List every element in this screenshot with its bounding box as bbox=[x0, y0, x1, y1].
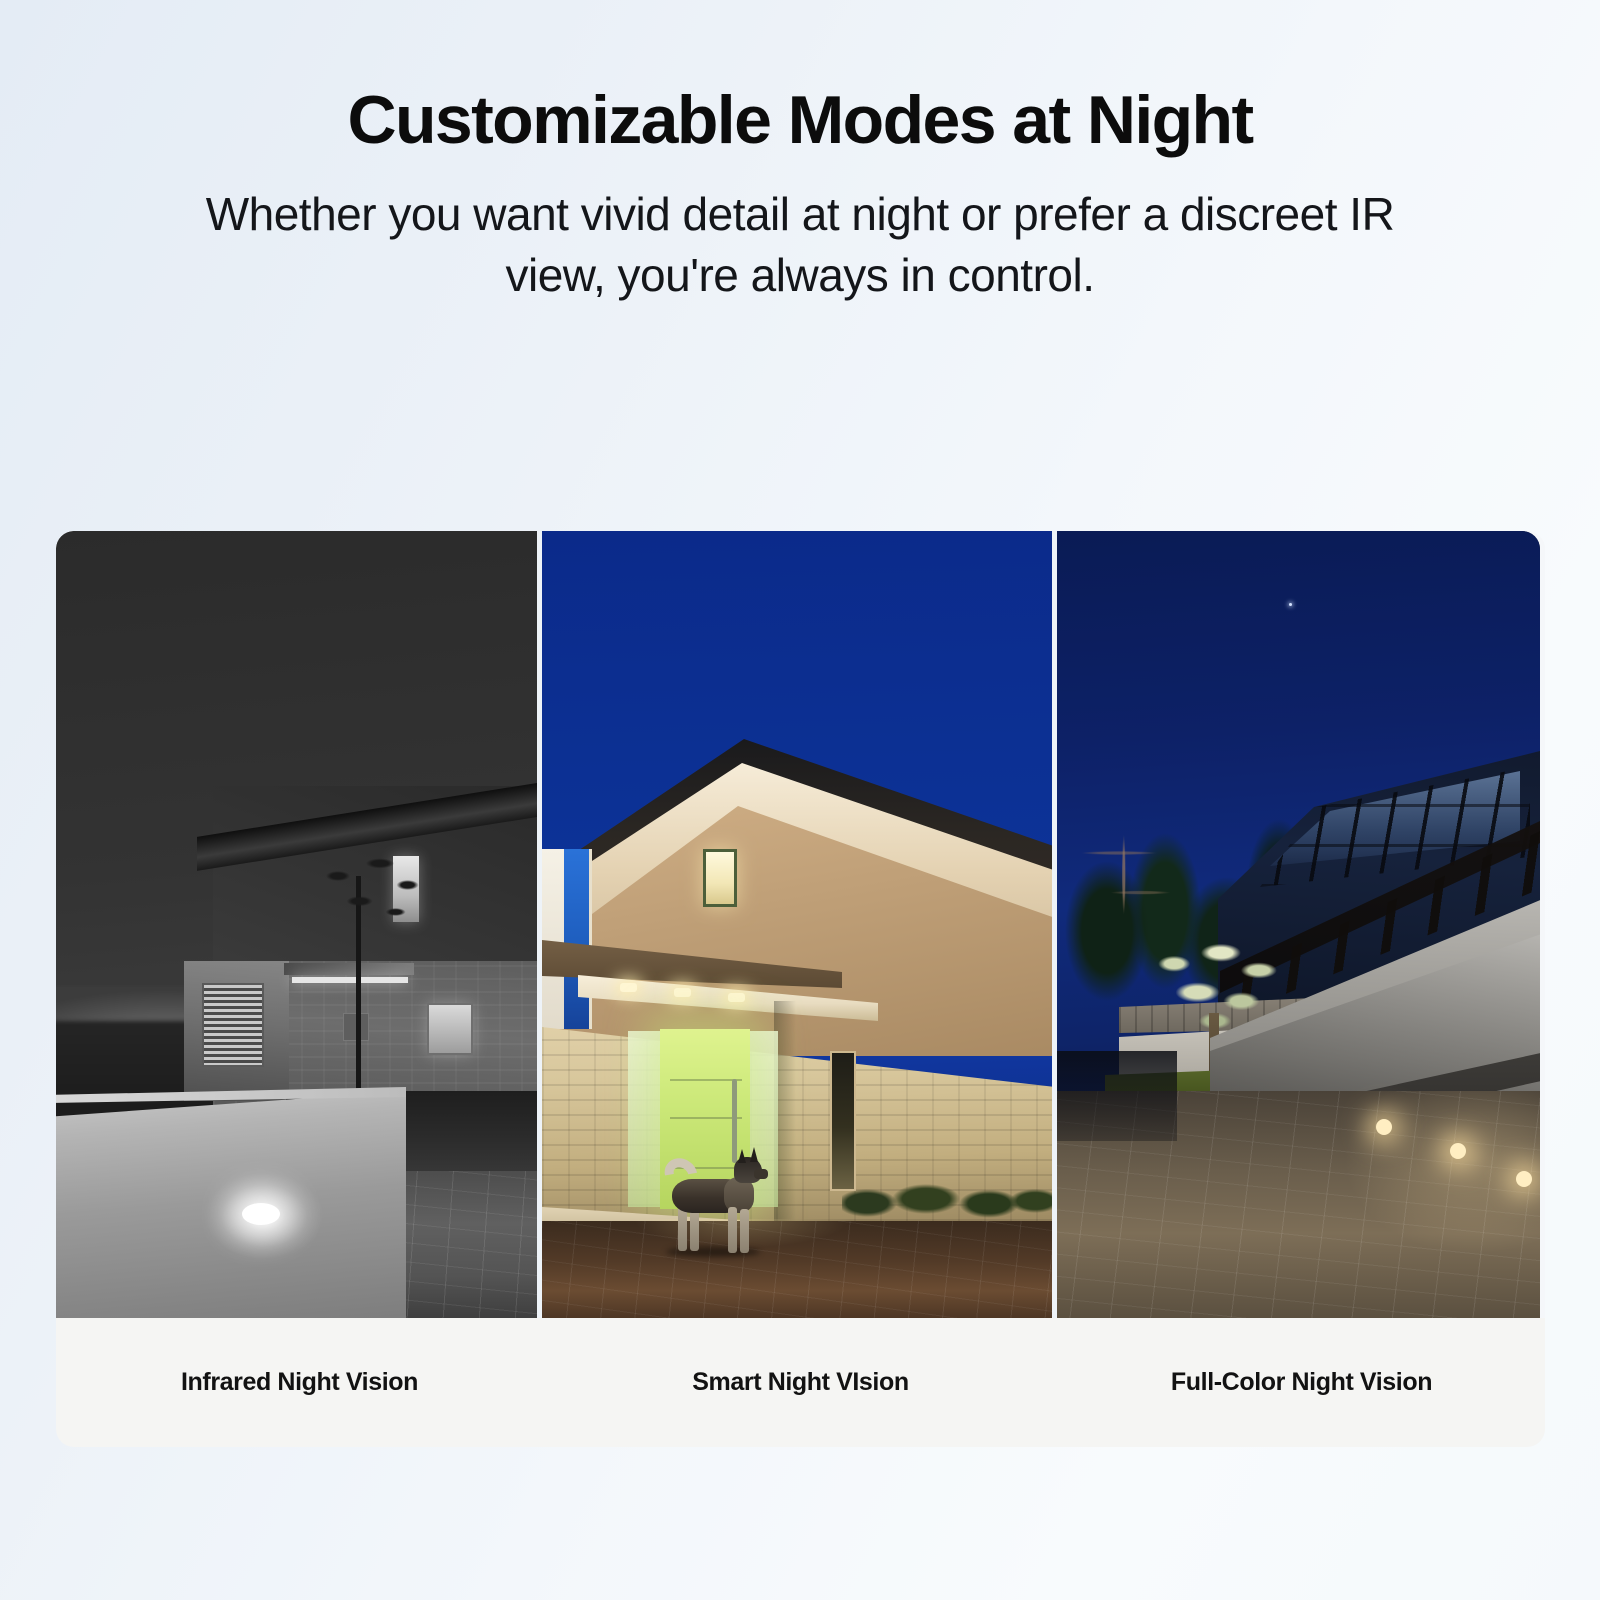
fullcolor-bare-tree bbox=[1071, 781, 1191, 961]
caption-full-color-night-vision: Full-Color Night Vision bbox=[1058, 1368, 1545, 1397]
dog-leg bbox=[740, 1209, 749, 1253]
smart-canopy-spotlight bbox=[674, 988, 691, 997]
panel-smart-night-vision[interactable] bbox=[542, 531, 1052, 1318]
smart-canopy-spotlight bbox=[620, 983, 637, 992]
dog-leg bbox=[728, 1207, 737, 1253]
panel-infrared-night-vision[interactable] bbox=[56, 531, 537, 1318]
smart-dog bbox=[658, 1143, 766, 1255]
smart-window-curtain bbox=[542, 849, 564, 1029]
night-modes-gallery-card: Infrared Night Vision Smart Night VIsion… bbox=[56, 531, 1545, 1447]
dog-ear bbox=[750, 1147, 758, 1162]
smart-narrow-window bbox=[830, 1051, 856, 1191]
infrared-canopy bbox=[284, 963, 414, 975]
smart-canopy-spotlight bbox=[728, 993, 745, 1002]
caption-smart-night-vision: Smart Night VIsion bbox=[543, 1368, 1058, 1397]
dog-leg bbox=[690, 1209, 699, 1251]
dog-ear bbox=[738, 1149, 746, 1163]
panel-full-color-night-vision[interactable] bbox=[1057, 531, 1540, 1318]
fullcolor-star bbox=[1289, 603, 1292, 606]
dog-leg bbox=[678, 1207, 687, 1251]
page-subtitle: Whether you want vivid detail at night o… bbox=[150, 184, 1450, 305]
smart-lit-upper-window bbox=[703, 849, 737, 907]
dog-snout bbox=[754, 1169, 768, 1179]
fullcolor-recessed-light bbox=[1516, 1171, 1532, 1187]
smart-door-sidelight-left bbox=[628, 1031, 660, 1207]
smart-hedge bbox=[842, 1179, 1052, 1219]
fullcolor-recessed-light bbox=[1376, 1119, 1392, 1135]
page-title: Customizable Modes at Night bbox=[0, 82, 1600, 158]
caption-infrared-night-vision: Infrared Night Vision bbox=[56, 1368, 543, 1397]
fullcolor-recessed-light bbox=[1450, 1143, 1466, 1159]
page-header: Customizable Modes at Night Whether you … bbox=[0, 0, 1600, 306]
infrared-canopy-strip-light bbox=[292, 977, 408, 983]
comparison-panels bbox=[56, 531, 1545, 1318]
fullcolor-left-shadow bbox=[1057, 1051, 1177, 1141]
infrared-wall-light bbox=[242, 1203, 280, 1225]
panel-caption-bar: Infrared Night Vision Smart Night VIsion… bbox=[56, 1318, 1545, 1447]
infrared-louvre-shutter bbox=[202, 983, 264, 1067]
infrared-tree-crown bbox=[314, 849, 434, 939]
